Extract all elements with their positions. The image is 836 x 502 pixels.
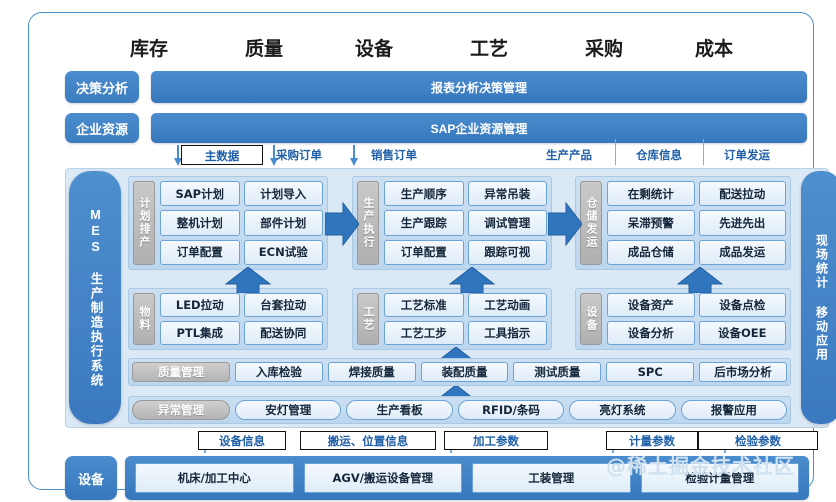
- parameter-label-row: 设备信息 搬运、位置信息 加工参数 计量参数 检验参数: [128, 431, 808, 453]
- cell-ptl-integration[interactable]: PTL集成: [160, 321, 240, 345]
- param-label-inspection-params: 检验参数: [698, 431, 818, 450]
- cell-production-tracking[interactable]: 生产跟踪: [384, 210, 464, 235]
- quality-management-strip: 质量管理 入库检验 焊接质量 装配质量 测试质量 SPC 后市场分析: [128, 358, 791, 386]
- cell-order-config-plan[interactable]: 订单配置: [160, 240, 240, 265]
- diagram-frame: 库存 质量 设备 工艺 采购 成本 决策分析 报表分析决策管理 企业资源 SAP…: [28, 12, 814, 490]
- cell-welding-quality[interactable]: 焊接质量: [328, 362, 416, 382]
- group-tab-process: 工艺: [357, 293, 379, 345]
- enterprise-resource-label: 企业资源: [65, 113, 139, 143]
- right-arrow-icon-exec-to-warehouse: [548, 201, 582, 247]
- cell-debug-management[interactable]: 调试管理: [468, 210, 548, 235]
- group-tab-planning: 计划排产: [133, 181, 155, 265]
- up-arrow-icon-equipment-to-warehouse: [677, 267, 723, 293]
- group-tab-warehouse-text: 仓储发运: [583, 197, 599, 249]
- flow-divider-2: [703, 139, 704, 165]
- group-tab-planning-text: 计划排产: [136, 197, 152, 249]
- cell-inspection-metering-management[interactable]: 检验计量管理: [641, 463, 800, 493]
- cell-aftermarket-analysis[interactable]: 后市场分析: [699, 362, 787, 382]
- cell-part-plan[interactable]: 部件计划: [244, 210, 324, 235]
- bottom-equipment-row: 机床/加工中心 AGV/搬运设备管理 工装管理 检验计量管理: [125, 456, 809, 500]
- flow-label-purchase-order: 采购订单: [261, 145, 337, 165]
- up-arrow-icon-material-to-plan: [225, 267, 271, 293]
- cell-process-step[interactable]: 工艺工步: [384, 321, 464, 345]
- erp-mes-flow-labels: 主数据 采购订单 销售订单 生产产品 仓库信息 订单发运: [151, 145, 811, 167]
- cell-stagnation-warning[interactable]: 呆滞预警: [607, 210, 695, 235]
- cell-tracking-visualization[interactable]: 跟踪可视: [468, 240, 548, 265]
- cell-tooling-management[interactable]: 工装管理: [472, 463, 631, 493]
- group-planning-cells: SAP计划 计划导入 整机计划 部件计划 订单配置 ECN试验: [160, 181, 323, 265]
- cell-remaining-statistics[interactable]: 在剩统计: [607, 181, 695, 206]
- cell-order-config-exec[interactable]: 订单配置: [384, 240, 464, 265]
- cell-test-quality[interactable]: 测试质量: [513, 362, 601, 382]
- group-tab-warehouse: 仓储发运: [580, 181, 602, 265]
- quality-management-tag: 质量管理: [132, 362, 230, 382]
- mes-system-label-text: MES 生产制造执行系统: [88, 208, 103, 388]
- cell-rfid-barcode[interactable]: RFID/条码: [458, 400, 564, 420]
- cell-plan-import[interactable]: 计划导入: [244, 181, 324, 206]
- flow-label-production-product: 生产产品: [529, 145, 609, 165]
- group-warehouse-shipping: 仓储发运 在剩统计 配送拉动 呆滞预警 先进先出 成品仓储 成品发运: [575, 176, 791, 270]
- group-production-execution: 生产执行 生产顺序 异常吊装 生产跟踪 调试管理 订单配置 跟踪可视: [352, 176, 552, 270]
- cell-process-animation[interactable]: 工艺动画: [468, 293, 548, 317]
- cell-equipment-analysis[interactable]: 设备分析: [607, 321, 695, 345]
- cell-equipment-asset[interactable]: 设备资产: [607, 293, 695, 317]
- cell-andon-management[interactable]: 安灯管理: [235, 400, 341, 420]
- cell-led-pull[interactable]: LED拉动: [160, 293, 240, 317]
- sap-erp-bar[interactable]: SAP企业资源管理: [151, 113, 807, 143]
- group-tab-equipment-text: 设备: [583, 306, 599, 332]
- cell-production-kanban[interactable]: 生产看板: [346, 400, 452, 420]
- top-category-row: 库存 质量 设备 工艺 采购 成本: [89, 27, 809, 67]
- top-category-quality: 质量: [209, 34, 319, 61]
- group-execution-cells: 生产顺序 异常吊装 生产跟踪 调试管理 订单配置 跟踪可视: [384, 181, 547, 265]
- top-category-purchasing: 采购: [549, 34, 659, 61]
- cell-finished-goods-storage[interactable]: 成品仓储: [607, 240, 695, 265]
- cell-sap-plan[interactable]: SAP计划: [160, 181, 240, 206]
- cell-agv-transport-equipment[interactable]: AGV/搬运设备管理: [304, 463, 463, 493]
- top-category-equipment: 设备: [319, 34, 429, 61]
- bottom-equipment-label: 设备: [65, 456, 117, 500]
- decision-analysis-bar[interactable]: 报表分析决策管理: [151, 71, 807, 103]
- cell-distribution-collaboration[interactable]: 配送协同: [244, 321, 324, 345]
- up-arrow-icon-process-to-exec: [449, 267, 495, 293]
- cell-machine-tool-center[interactable]: 机床/加工中心: [135, 463, 294, 493]
- cell-incoming-inspection[interactable]: 入库检验: [235, 362, 323, 382]
- cell-light-system[interactable]: 亮灯系统: [569, 400, 675, 420]
- group-equipment-cells: 设备资产 设备点检 设备分析 设备OEE: [607, 293, 786, 345]
- param-label-equipment-info: 设备信息: [198, 431, 286, 450]
- cell-production-sequence[interactable]: 生产顺序: [384, 181, 464, 206]
- group-material: 物料 LED拉动 台套拉动 PTL集成 配送协同: [128, 288, 328, 350]
- group-equipment: 设备 设备资产 设备点检 设备分析 设备OEE: [575, 288, 791, 350]
- cell-alarm-application[interactable]: 报警应用: [681, 400, 787, 420]
- right-arrow-icon-plan-to-exec: [325, 201, 359, 247]
- top-category-process: 工艺: [429, 34, 549, 61]
- exception-management-tag: 异常管理: [132, 400, 230, 420]
- cell-assembly-quality[interactable]: 装配质量: [421, 362, 509, 382]
- cell-process-standard[interactable]: 工艺标准: [384, 293, 464, 317]
- group-tab-execution: 生产执行: [357, 181, 379, 265]
- exception-management-strip: 异常管理 安灯管理 生产看板 RFID/条码 亮灯系统 报警应用: [128, 396, 791, 424]
- param-label-metering-params: 计量参数: [606, 431, 698, 450]
- cell-abnormal-hoisting[interactable]: 异常吊装: [468, 181, 548, 206]
- flow-label-master-data: 主数据: [181, 145, 263, 165]
- cell-distribution-pull[interactable]: 配送拉动: [699, 181, 787, 206]
- cell-ecn-test[interactable]: ECN试验: [244, 240, 324, 265]
- top-category-cost: 成本: [659, 34, 769, 61]
- flow-label-sales-order: 销售订单: [356, 145, 432, 165]
- onsite-statistics-label-text: 现场统计 移动应用: [814, 234, 829, 362]
- onsite-statistics-label: 现场统计 移动应用: [801, 171, 836, 424]
- group-tab-equipment: 设备: [580, 293, 602, 345]
- cell-fifo[interactable]: 先进先出: [699, 210, 787, 235]
- param-label-machining-params: 加工参数: [444, 431, 548, 450]
- group-tab-material-text: 物料: [136, 306, 152, 332]
- flow-divider-1: [615, 139, 616, 165]
- cell-equipment-oee[interactable]: 设备OEE: [699, 321, 787, 345]
- cell-machine-plan[interactable]: 整机计划: [160, 210, 240, 235]
- cell-set-pull[interactable]: 台套拉动: [244, 293, 324, 317]
- mes-system-label: MES 生产制造执行系统: [69, 171, 121, 424]
- group-tab-process-text: 工艺: [360, 306, 376, 332]
- cell-equipment-inspection[interactable]: 设备点检: [699, 293, 787, 317]
- top-category-inventory: 库存: [89, 34, 209, 61]
- decision-analysis-label: 决策分析: [65, 71, 139, 103]
- cell-finished-goods-shipping[interactable]: 成品发运: [699, 240, 787, 265]
- group-tab-execution-text: 生产执行: [360, 197, 376, 249]
- cell-tool-instruction[interactable]: 工具指示: [468, 321, 548, 345]
- group-process: 工艺 工艺标准 工艺动画 工艺工步 工具指示: [352, 288, 552, 350]
- cell-spc[interactable]: SPC: [606, 362, 694, 382]
- group-warehouse-cells: 在剩统计 配送拉动 呆滞预警 先进先出 成品仓储 成品发运: [607, 181, 786, 265]
- param-label-transport-position-info: 搬运、位置信息: [300, 431, 436, 450]
- group-material-cells: LED拉动 台套拉动 PTL集成 配送协同: [160, 293, 323, 345]
- flow-label-order-shipment: 订单发运: [707, 145, 787, 165]
- group-process-cells: 工艺标准 工艺动画 工艺工步 工具指示: [384, 293, 547, 345]
- group-planning: 计划排产 SAP计划 计划导入 整机计划 部件计划 订单配置 ECN试验: [128, 176, 328, 270]
- group-tab-material: 物料: [133, 293, 155, 345]
- flow-label-warehouse-info: 仓库信息: [619, 145, 699, 165]
